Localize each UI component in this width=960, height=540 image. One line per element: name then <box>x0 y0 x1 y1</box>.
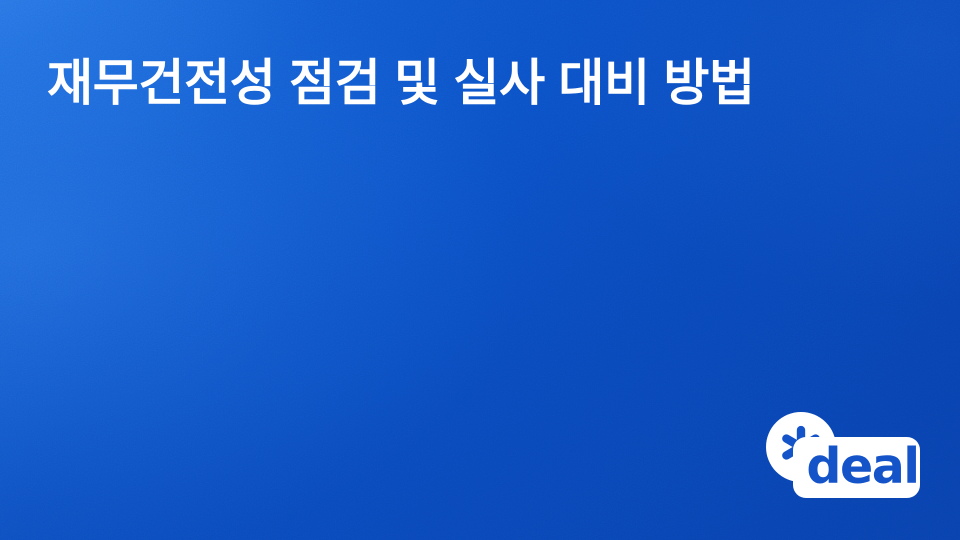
slide-title: 재무건전성 점검 및 실사 대비 방법 <box>47 54 907 113</box>
deal-logo: deal <box>766 412 921 498</box>
logo-wordmark: deal <box>793 437 920 498</box>
presentation-slide: 재무건전성 점검 및 실사 대비 방법 <box>0 0 960 540</box>
logo-wordmark-text: deal <box>794 442 918 493</box>
